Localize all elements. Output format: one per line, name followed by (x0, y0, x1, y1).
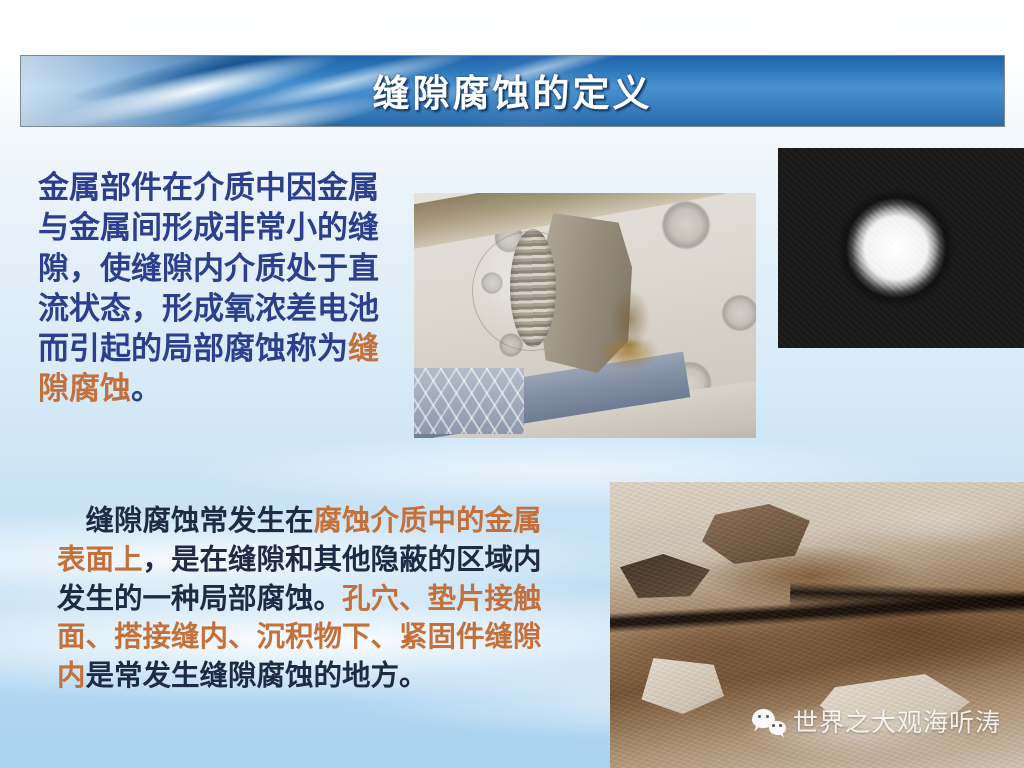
title-banner: 缝隙腐蚀的定义 (20, 55, 1005, 127)
photo-tube-sheet-holes-bw (778, 148, 1024, 348)
para2-seg-4: 是常发生缝隙腐蚀的地方。 (86, 659, 428, 692)
bolt-thread (510, 229, 556, 347)
photo-bolted-plate-crevice-corrosion (414, 193, 756, 438)
para1-seg-0: 金属部件在介质中因金属与金属间形成非常小的缝隙，使缝隙内介质处于直流状态，形成氧… (38, 170, 379, 367)
para2-seg-0: 缝隙腐蚀常发生在 (57, 504, 314, 537)
slide-canvas: 缝隙腐蚀的定义 金属部件在介质中因金属与金属间形成非常小的缝隙，使缝隙内介质处于… (0, 0, 1024, 768)
handrail-mesh (414, 368, 524, 434)
watermark-text: 世界之大观海听涛 (793, 703, 1001, 739)
page-title: 缝隙腐蚀的定义 (21, 56, 1004, 126)
para1-seg-2: 。 (131, 371, 162, 407)
occurrence-paragraph: 缝隙腐蚀常发生在腐蚀介质中的金属表面上，是在缝隙和其他隐蔽的区域内发生的一种局部… (57, 502, 549, 696)
rust-stain-2 (610, 289, 650, 349)
wechat-icon (752, 707, 786, 735)
definition-paragraph: 金属部件在介质中因金属与金属间形成非常小的缝隙，使缝隙内介质处于直流状态，形成氧… (38, 168, 400, 410)
watermark: 世界之大观海听涛 (752, 703, 1001, 739)
tube-sheet-texture (778, 148, 1024, 348)
